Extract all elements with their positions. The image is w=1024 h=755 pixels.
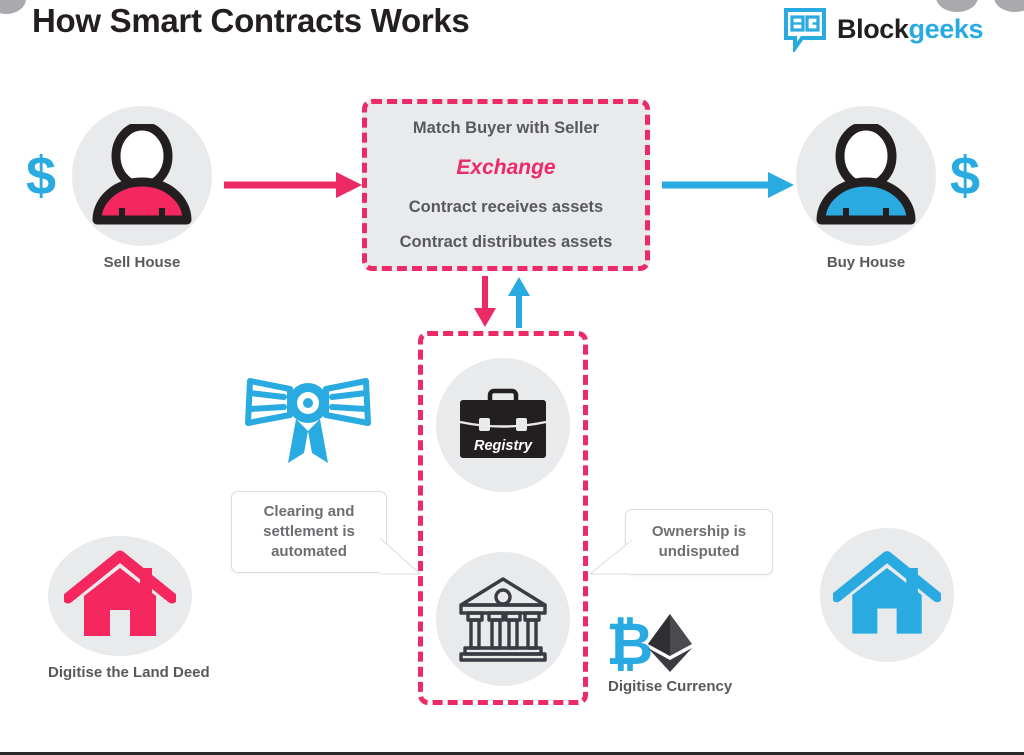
buy-house-label: Buy House [796, 254, 936, 271]
arrow-exchange-to-buy [662, 170, 796, 200]
dollar-sign-icon-left: $ [26, 149, 56, 203]
brand-logo: Blockgeeks [783, 6, 983, 52]
currency-icons-group: ₿ [604, 612, 696, 674]
callout-left-text: Clearing and settlement is automated [240, 502, 378, 563]
brand-name-part1: Block [837, 14, 909, 44]
node-registry[interactable]: Registry [436, 358, 570, 492]
decorative-dot-top-left [0, 0, 26, 14]
node-buy-house[interactable]: Buy House [796, 106, 936, 271]
bank-building-icon [455, 575, 551, 663]
speech-bubble-bg-logo-icon [783, 6, 827, 52]
callout-clearing-settlement: Clearing and settlement is automated [231, 491, 387, 573]
exchange-line-2: Contract receives assets [409, 191, 603, 224]
node-sell-house[interactable]: Sell House [72, 106, 212, 271]
person-cyan-icon [811, 124, 921, 228]
node-bank[interactable] [436, 552, 570, 686]
infographic-canvas: How Smart Contracts Works Blockgeeks $ S… [0, 0, 1024, 755]
exchange-line-3: Contract distributes assets [400, 226, 613, 259]
callout-ownership: Ownership is undisputed [625, 509, 773, 575]
page-title: How Smart Contracts Works [32, 2, 470, 40]
arrow-sell-to-exchange [224, 170, 364, 200]
node-digitise-land-deed[interactable]: Digitise the Land Deed [48, 536, 192, 681]
arrow-exchange-down [472, 276, 498, 328]
house-pink-icon [64, 550, 176, 642]
brand-name: Blockgeeks [837, 14, 983, 45]
callout-left-tail [380, 538, 424, 580]
registry-briefcase-label: Registry [474, 438, 533, 454]
node-award-ribbon [238, 371, 378, 476]
house-cyan-icon [833, 550, 941, 640]
callout-right-text: Ownership is undisputed [634, 522, 764, 563]
briefcase-icon: Registry [457, 388, 549, 462]
callout-right-tail [590, 540, 632, 580]
exchange-line-0: Match Buyer with Seller [413, 112, 599, 145]
award-ribbon-icon [238, 371, 378, 471]
digitise-currency-label: Digitise Currency [608, 678, 732, 695]
bank-circle [436, 552, 570, 686]
ethereum-icon [648, 614, 692, 672]
dollar-sign-icon-right: $ [950, 149, 980, 203]
house-right-circle [820, 528, 954, 662]
bitcoin-icon: ₿ [606, 612, 653, 674]
node-house-right[interactable] [820, 528, 954, 662]
exchange-line-1: Exchange [456, 147, 555, 189]
buy-house-circle [796, 106, 936, 246]
decorative-dot-top-right-2 [994, 0, 1024, 12]
arrow-column-up [506, 276, 532, 328]
brand-name-part2: geeks [909, 14, 984, 44]
exchange-box: Match Buyer with Seller Exchange Contrac… [362, 99, 650, 271]
node-digitise-currency[interactable]: ₿ [604, 612, 696, 679]
person-pink-icon [87, 124, 197, 228]
land-deed-label: Digitise the Land Deed [48, 664, 192, 681]
sell-house-label: Sell House [72, 254, 212, 271]
sell-house-circle [72, 106, 212, 246]
registry-circle: Registry [436, 358, 570, 492]
land-deed-circle [48, 536, 192, 656]
